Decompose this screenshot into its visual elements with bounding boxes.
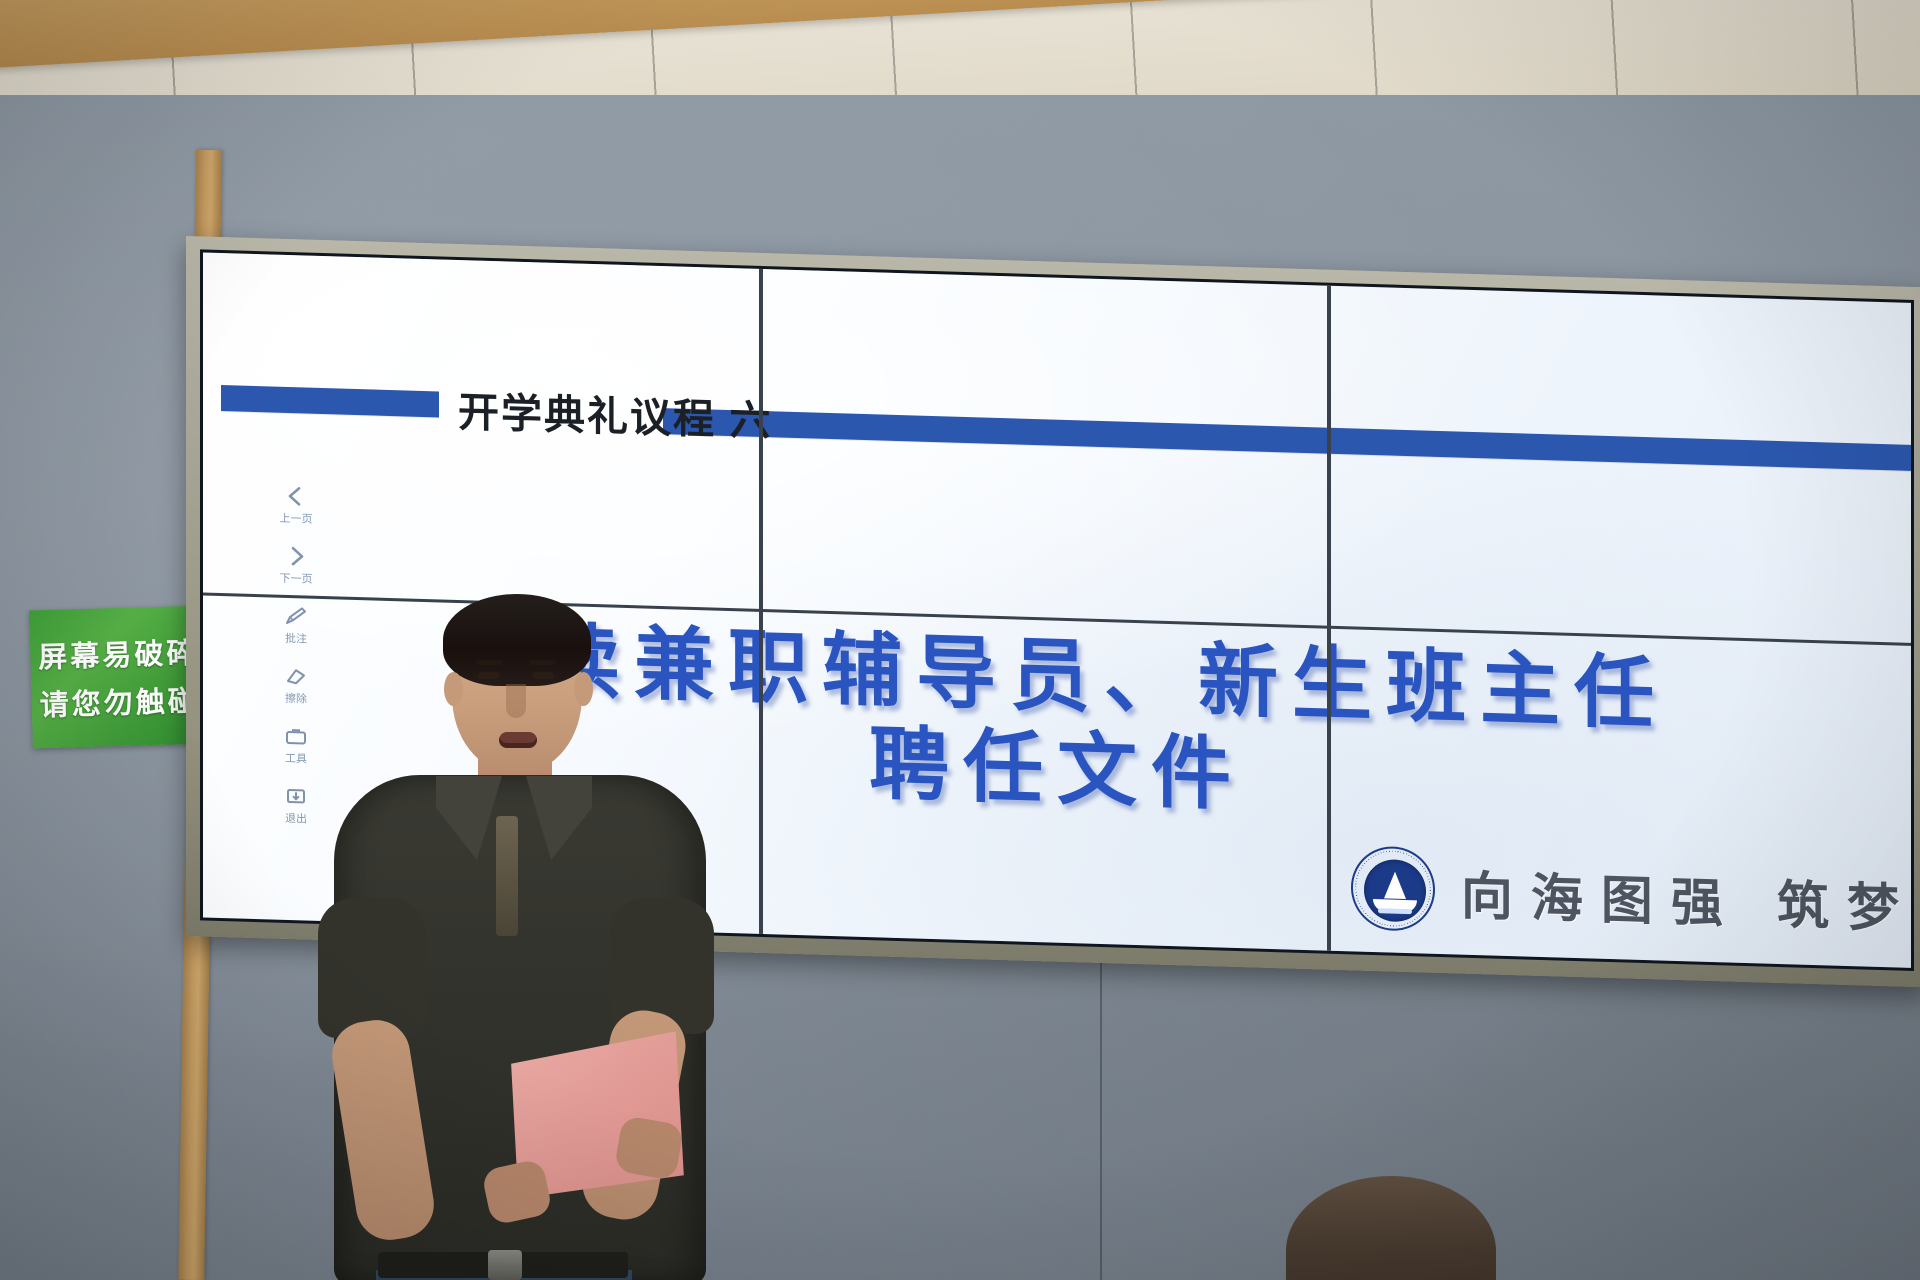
toolbar-item-prev-page[interactable]: 上一页 (279, 483, 313, 527)
toolbar-label-prev-page: 上一页 (280, 510, 313, 527)
slide-header-text: 开学典礼议程 六 (458, 378, 772, 447)
audience-head (1286, 1176, 1496, 1280)
school-crest-icon (1351, 845, 1435, 931)
nose (506, 684, 526, 718)
ear-left (444, 672, 463, 706)
eyebrow-right (530, 660, 556, 665)
sleeve-left (318, 898, 426, 1038)
presenter-figure (300, 580, 760, 1280)
chevron-left-icon (279, 483, 313, 510)
eyebrow-left (476, 660, 502, 665)
chevron-right-icon (279, 543, 313, 570)
hand-right (614, 1115, 685, 1181)
warning-line-2: 请您勿触碰 (39, 678, 200, 724)
screen-fragile-warning-sign: 屏幕易破碎 请您勿触碰 (29, 606, 209, 749)
belt-buckle (488, 1250, 522, 1280)
mouth (499, 732, 537, 748)
eye-right (532, 672, 554, 679)
slide-footer: 向海图强 筑梦 (1351, 845, 1911, 946)
audience-member (1286, 1176, 1506, 1280)
photo-scene: 屏幕易破碎 请您勿触碰 开学典礼议程 六 宣读兼职辅导员、新生班主任 聘任文件 (0, 0, 1920, 1280)
shirt-placket (496, 816, 518, 936)
panel-seam-vertical (1327, 286, 1331, 951)
ear-right (574, 672, 593, 706)
hair (443, 594, 591, 686)
slide-footer-motto: 向海图强 筑梦 (1461, 853, 1911, 941)
warning-line-1: 屏幕易破碎 (38, 630, 199, 676)
eye-left (478, 672, 500, 679)
